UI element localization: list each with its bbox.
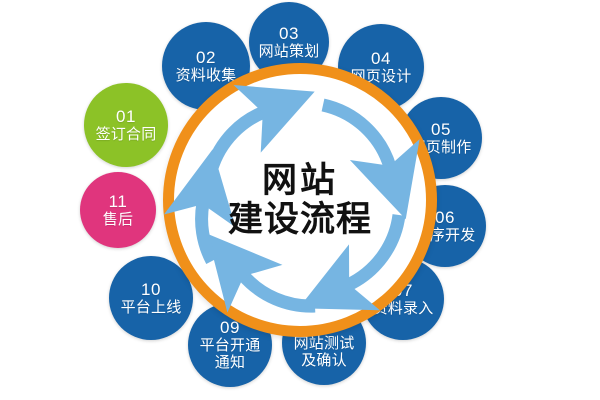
process-node-label: 网站策划	[259, 44, 320, 61]
cycle-arrows-icon	[163, 63, 437, 337]
process-node-label-line2: 通知	[215, 355, 245, 372]
process-node-number: 01	[116, 107, 136, 126]
process-node-label: 签订合同	[96, 127, 157, 144]
process-node-01[interactable]: 01签订合同	[84, 83, 168, 167]
center-cycle: 网站 建设流程	[163, 63, 437, 337]
process-node-number: 11	[109, 192, 128, 211]
process-node-number: 06	[435, 208, 455, 227]
process-node-label-line2: 及确认	[301, 353, 347, 370]
process-node-label: 平台开通	[200, 338, 261, 355]
diagram-canvas: 01签订合同02资料收集03网站策划04网页设计05网页制作06程序开发07资料…	[0, 0, 600, 400]
process-node-label: 售后	[103, 212, 133, 229]
process-node-11[interactable]: 11售后	[80, 172, 156, 248]
process-node-label: 网站测试	[294, 336, 355, 353]
process-node-number: 10	[141, 280, 161, 299]
process-node-number: 03	[279, 24, 299, 43]
